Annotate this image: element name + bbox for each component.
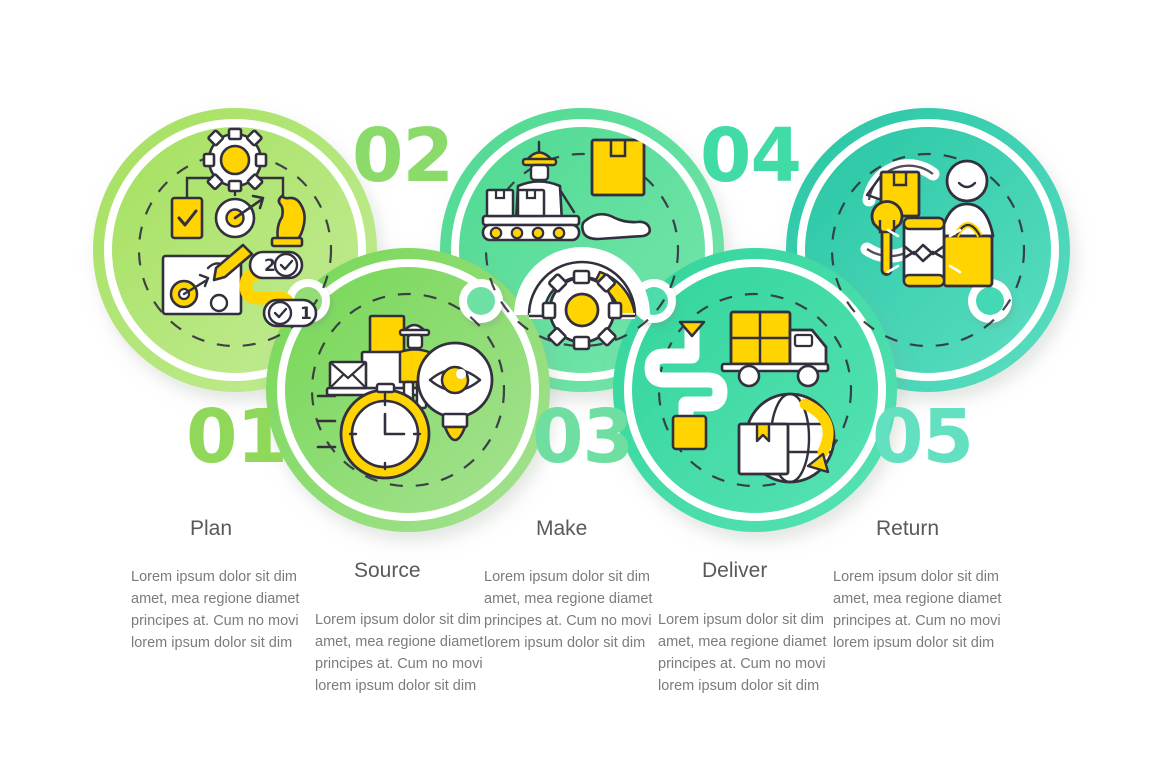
step-title-return: Return [876,517,939,540]
step-title-plan: Plan [190,517,232,540]
step-title-make: Make [536,517,587,540]
infographic-canvas: 2 1 [0,0,1160,772]
step-body-source: Lorem ipsum dolor sit dim amet, mea regi… [315,609,493,697]
step-body-return: Lorem ipsum dolor sit dim amet, mea regi… [833,566,1011,654]
step-number-04: 04 [700,119,801,193]
step-number-01: 01 [186,400,287,474]
step-body-deliver: Lorem ipsum dolor sit dim amet, mea regi… [658,609,836,697]
step-body-make: Lorem ipsum dolor sit dim amet, mea regi… [484,566,662,654]
step-number-05: 05 [872,400,973,474]
step-number-02: 02 [352,119,453,193]
step-title-deliver: Deliver [702,559,767,582]
infographic-text: 01 02 03 04 05 Plan Source Make Deliver … [0,0,1160,772]
step-number-03: 03 [532,400,633,474]
step-body-plan: Lorem ipsum dolor sit dim amet, mea regi… [131,566,309,654]
step-title-source: Source [354,559,421,582]
